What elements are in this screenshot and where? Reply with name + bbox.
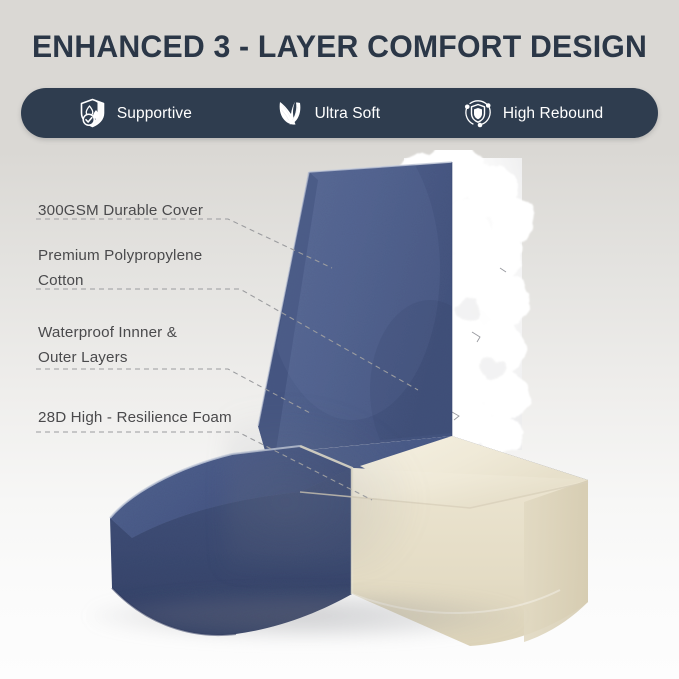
feature-badge-bar: Supportive Ultra Soft (21, 88, 658, 138)
feather-icon (274, 97, 306, 129)
feature-supportive: Supportive (76, 97, 192, 129)
callout-durable-cover: 300GSM Durable Cover (38, 198, 203, 223)
callout-polypropylene-cotton: Premium Polypropylene Cotton (38, 243, 202, 293)
backrest-shadow (225, 400, 425, 570)
shield-orbit-icon (462, 97, 494, 129)
page-title: ENHANCED 3 - LAYER COMFORT DESIGN (14, 27, 666, 65)
feature-label-high-rebound: High Rebound (503, 105, 603, 122)
shield-droplet-check-icon (76, 97, 108, 129)
feature-ultra-soft: Ultra Soft (274, 97, 381, 129)
feature-label-supportive: Supportive (117, 105, 192, 122)
callout-waterproof-layers: Waterproof Innner & Outer Layers (38, 320, 177, 370)
feature-label-ultra-soft: Ultra Soft (315, 105, 381, 122)
callout-resilience-foam: 28D High - Resilience Foam (38, 405, 232, 430)
cushion-floor-shadow (90, 590, 520, 642)
infographic-canvas: ENHANCED 3 - LAYER COMFORT DESIGN Suppor… (0, 0, 679, 679)
feature-high-rebound: High Rebound (462, 97, 603, 129)
